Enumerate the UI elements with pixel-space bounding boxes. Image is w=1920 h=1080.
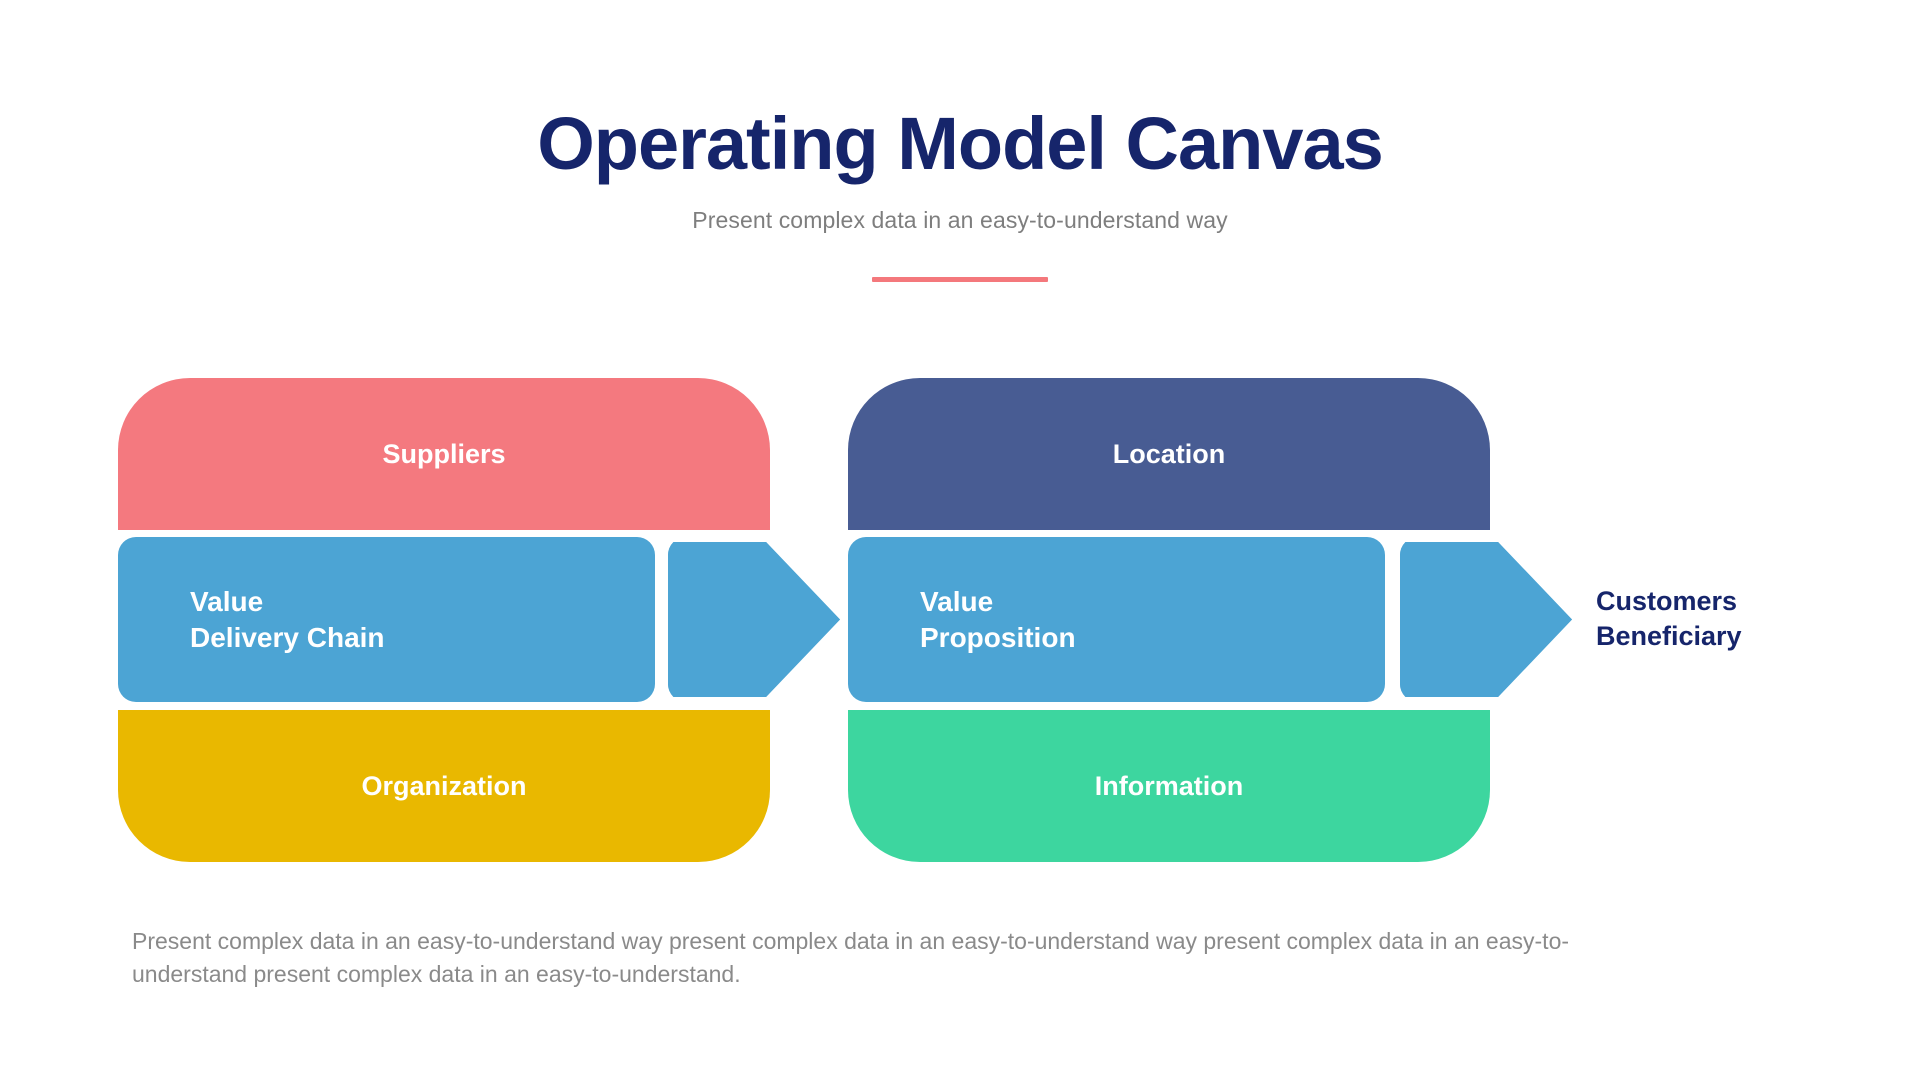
canvas-block-value-proposition-label: Value Proposition <box>920 584 1076 656</box>
canvas-block-value-proposition[interactable]: Value Proposition <box>848 537 1385 702</box>
arrow-fill <box>1400 537 1572 702</box>
canvas-block-value-delivery-chain[interactable]: Value Delivery Chain <box>118 537 655 702</box>
canvas-block-information-label: Information <box>1095 769 1244 804</box>
canvas-block-location-label: Location <box>1113 437 1226 472</box>
canvas-block-suppliers[interactable]: Suppliers <box>118 378 770 530</box>
canvas-block-organization[interactable]: Organization <box>118 710 770 862</box>
arrow-right-icon-value-delivery-chain <box>668 537 840 702</box>
operating-model-canvas-diagram: Suppliers Location Value Delivery Chain … <box>0 0 1920 1080</box>
arrow-fill <box>668 537 840 702</box>
arrow-right-icon-value-proposition <box>1400 537 1572 702</box>
canvas-block-organization-label: Organization <box>361 769 526 804</box>
canvas-block-information[interactable]: Information <box>848 710 1490 862</box>
canvas-block-suppliers-label: Suppliers <box>382 437 505 472</box>
canvas-block-value-delivery-chain-label: Value Delivery Chain <box>190 584 385 656</box>
canvas-block-location[interactable]: Location <box>848 378 1490 530</box>
canvas-outcome-label: Customers Beneficiary <box>1596 584 1896 653</box>
footer-description: Present complex data in an easy-to-under… <box>132 925 1612 990</box>
